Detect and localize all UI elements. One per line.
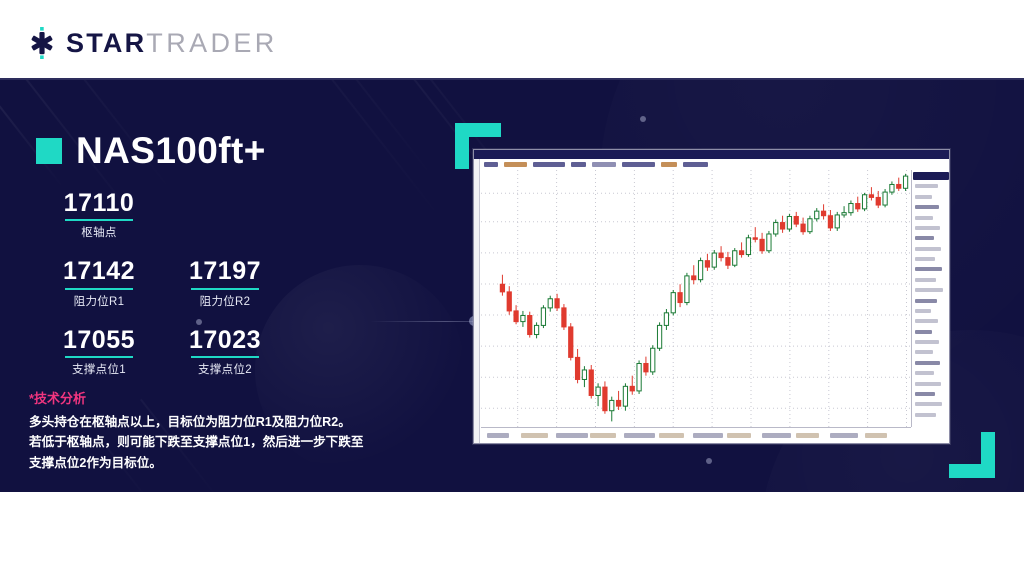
price-axis-tick	[915, 267, 942, 271]
accent-underline	[191, 356, 259, 358]
level-support-2-label: 支撑点位2	[162, 361, 288, 377]
price-axis-tick	[915, 330, 932, 334]
accent-underline	[65, 356, 133, 358]
level-pivot-label: 枢轴点	[36, 224, 162, 240]
chart-symbol-label-fragment	[683, 162, 708, 167]
time-axis-tick	[727, 433, 751, 438]
price-axis[interactable]	[911, 170, 949, 427]
slide-root: STARTRADER NAS100ft	[0, 0, 1024, 576]
chart-symbol-label-fragment	[484, 162, 498, 167]
chart-symbol-label-fragment	[592, 162, 616, 167]
levels-group: 17110 枢轴点 17142 阻力位R1 17197 阻力位R2	[36, 188, 296, 377]
price-axis-tick	[915, 309, 931, 313]
corner-bracket-bottom-right	[949, 432, 995, 478]
time-axis-tick	[762, 433, 791, 438]
level-support-1-value: 17055	[63, 327, 135, 353]
price-axis-tick	[915, 413, 936, 417]
price-axis-tick	[915, 361, 940, 365]
price-axis-tick	[915, 205, 939, 209]
time-axis-tick	[830, 433, 858, 438]
time-axis-tick	[521, 433, 548, 438]
analysis-line-2: 若低于枢轴点，则可能下跌至支撑点位1，然后进一步下跌至	[29, 432, 419, 452]
chart-symbol-label-fragment	[661, 162, 677, 167]
level-support-1: 17055 支撑点位1	[36, 325, 162, 377]
price-axis-tick	[915, 257, 935, 261]
chart-symbol-label-fragment	[571, 162, 586, 167]
price-axis-tick	[915, 371, 934, 375]
price-axis-tick	[915, 226, 940, 230]
time-axis-tick	[796, 433, 819, 438]
time-axis-tick	[556, 433, 588, 438]
accent-underline	[191, 288, 259, 290]
page-footer: 汇评 | 2023年12月29日	[0, 492, 1024, 576]
page-header: STARTRADER	[0, 0, 1024, 80]
levels-row-resistance: 17142 阻力位R1 17197 阻力位R2	[36, 256, 296, 308]
chart-symbol-strip	[474, 159, 949, 170]
level-resistance-2-value: 17197	[189, 258, 261, 284]
brand-logo[interactable]: STARTRADER	[25, 26, 278, 60]
price-axis-tick	[915, 247, 941, 251]
price-axis-tick	[915, 195, 932, 199]
level-support-2: 17023 支撑点位2	[162, 325, 288, 377]
price-axis-tick	[915, 216, 933, 220]
chart-window-titlebar	[474, 150, 949, 159]
analysis-line-1: 多头持仓在枢轴点以上，目标位为阻力位R1及阻力位R2。	[29, 412, 419, 432]
price-axis-tick	[915, 299, 937, 303]
accent-underline	[65, 219, 133, 221]
instrument-symbol: NAS100ft+	[76, 132, 266, 169]
level-pivot: 17110 枢轴点	[36, 188, 162, 240]
levels-row-support: 17055 支撑点位1 17023 支撑点位2	[36, 325, 296, 377]
star-asterisk-icon	[25, 26, 59, 60]
analysis-heading: *技术分析	[29, 388, 419, 407]
price-axis-tick	[915, 278, 936, 282]
time-axis[interactable]	[481, 427, 911, 443]
time-axis-tick	[659, 433, 684, 438]
accent-underline	[65, 288, 133, 290]
brand-name-secondary: TRADER	[146, 30, 277, 57]
brand-wordmark: STARTRADER	[66, 30, 278, 57]
technical-analysis-block: *技术分析 多头持仓在枢轴点以上，目标位为阻力位R1及阻力位R2。 若低于枢轴点…	[29, 388, 419, 473]
price-axis-tick	[915, 236, 934, 240]
price-axis-tick	[915, 392, 935, 396]
price-axis-tick	[915, 288, 943, 292]
page-title: NAS100ft+	[36, 132, 266, 169]
price-axis-tick	[915, 350, 933, 354]
price-axis-tick	[915, 319, 938, 323]
level-resistance-2: 17197 阻力位R2	[162, 256, 288, 308]
analysis-line-3: 支撑点位2作为目标位。	[29, 453, 419, 473]
level-pivot-value: 17110	[64, 190, 135, 216]
chart-left-gutter	[474, 159, 480, 443]
chart-symbol-label-fragment	[622, 162, 655, 167]
brand-name-primary: STAR	[66, 30, 146, 57]
time-axis-tick	[590, 433, 616, 438]
price-axis-tick	[915, 402, 942, 406]
price-axis-tick	[915, 184, 938, 188]
time-axis-tick	[693, 433, 723, 438]
candlestick-chart[interactable]	[473, 149, 950, 444]
time-axis-tick	[865, 433, 887, 438]
price-axis-tick	[915, 340, 939, 344]
level-resistance-2-label: 阻力位R2	[162, 293, 288, 309]
chart-symbol-label-fragment	[533, 162, 565, 167]
level-resistance-1-value: 17142	[63, 258, 135, 284]
price-axis-tick	[915, 382, 941, 386]
time-axis-tick	[487, 433, 509, 438]
levels-row-pivot: 17110 枢轴点	[36, 188, 296, 240]
chart-symbol-label-fragment	[504, 162, 527, 167]
level-resistance-1-label: 阻力位R1	[36, 293, 162, 309]
level-resistance-1: 17142 阻力位R1	[36, 256, 162, 308]
time-axis-tick	[624, 433, 655, 438]
level-support-1-label: 支撑点位1	[36, 361, 162, 377]
chart-plot-area[interactable]	[481, 170, 911, 427]
current-price-marker	[913, 172, 949, 180]
level-support-2-value: 17023	[189, 327, 261, 353]
square-bullet-icon	[36, 138, 62, 164]
